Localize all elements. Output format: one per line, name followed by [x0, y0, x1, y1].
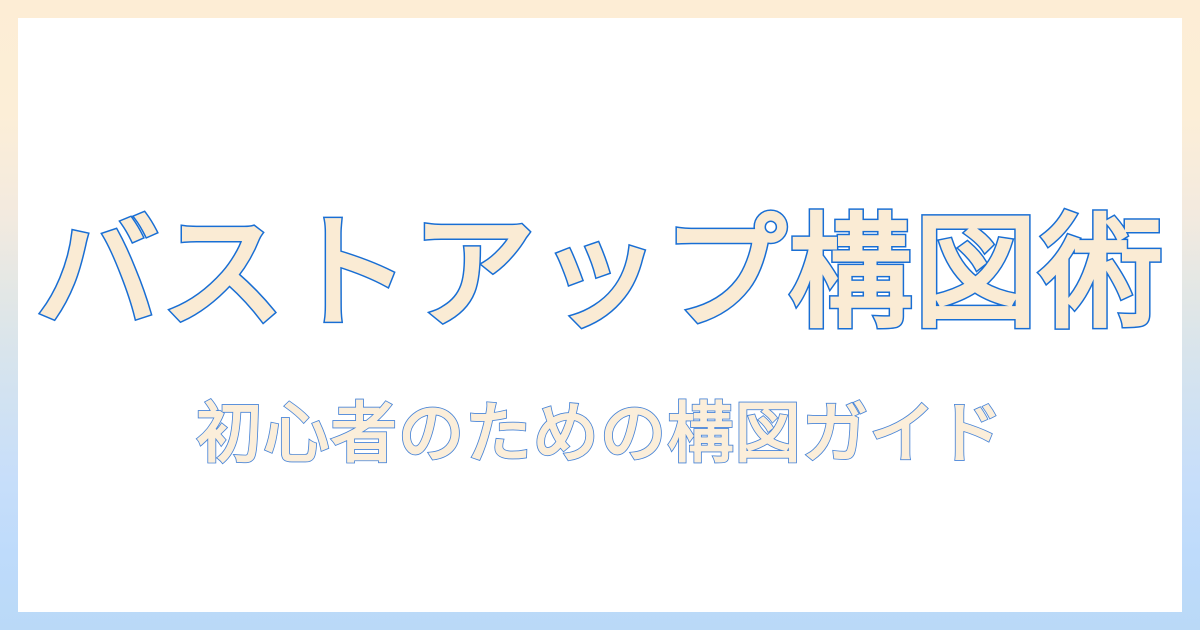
banner-title-container: バストアップ構図術	[18, 199, 1182, 349]
banner-inner-panel: バストアップ構図術 初心者のための構図ガイド	[18, 18, 1182, 612]
banner-title: バストアップ構図術	[35, 212, 1164, 336]
banner-subtitle-container: 初心者のための構図ガイド	[18, 391, 1182, 477]
banner-text-stack: バストアップ構図術 初心者のための構図ガイド	[18, 18, 1182, 612]
banner-frame: バストアップ構図術 初心者のための構図ガイド	[0, 0, 1200, 630]
banner-subtitle: 初心者のための構図ガイド	[196, 401, 1004, 467]
